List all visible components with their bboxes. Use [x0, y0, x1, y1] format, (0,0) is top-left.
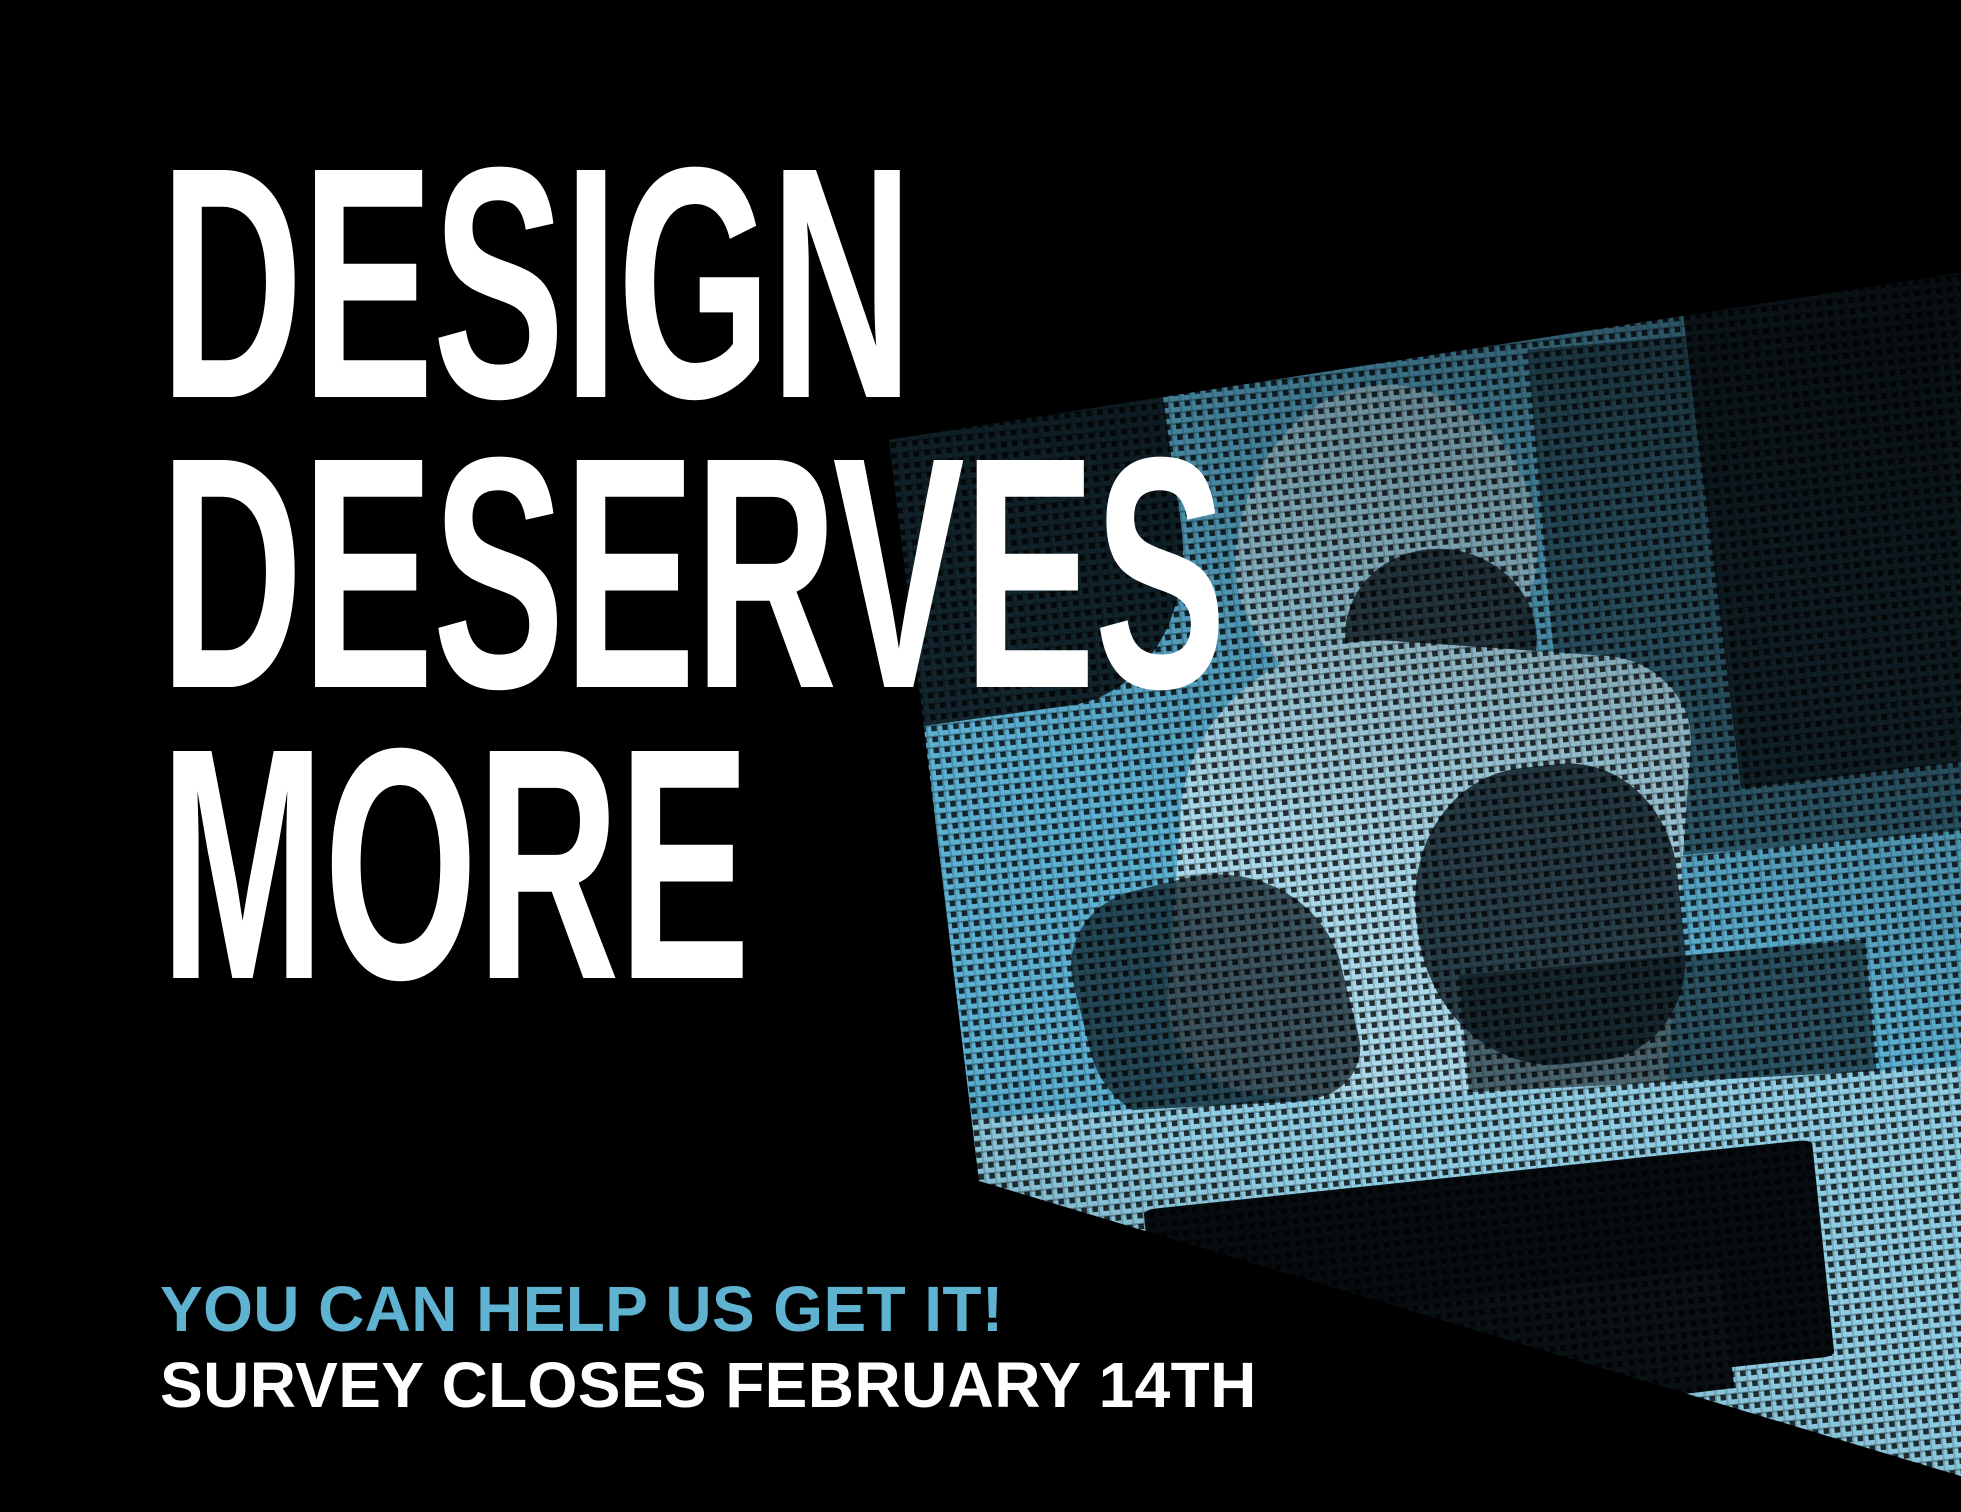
headline-line-2: DESERVES: [160, 428, 1225, 718]
headline-line-3: MORE: [160, 719, 1225, 1009]
page-title: DESIGN DESERVES MORE: [160, 138, 1935, 1009]
poster-canvas: DESIGN DESERVES MORE YOU CAN HELP US GET…: [0, 0, 1961, 1512]
headline-line-1: DESIGN: [160, 138, 1225, 428]
call-to-action-text: YOU CAN HELP US GET IT!: [160, 1272, 1257, 1348]
survey-deadline-text: SURVEY CLOSES FEBRUARY 14TH: [160, 1348, 1257, 1424]
subtitle-block: YOU CAN HELP US GET IT! SURVEY CLOSES FE…: [160, 1272, 1257, 1423]
